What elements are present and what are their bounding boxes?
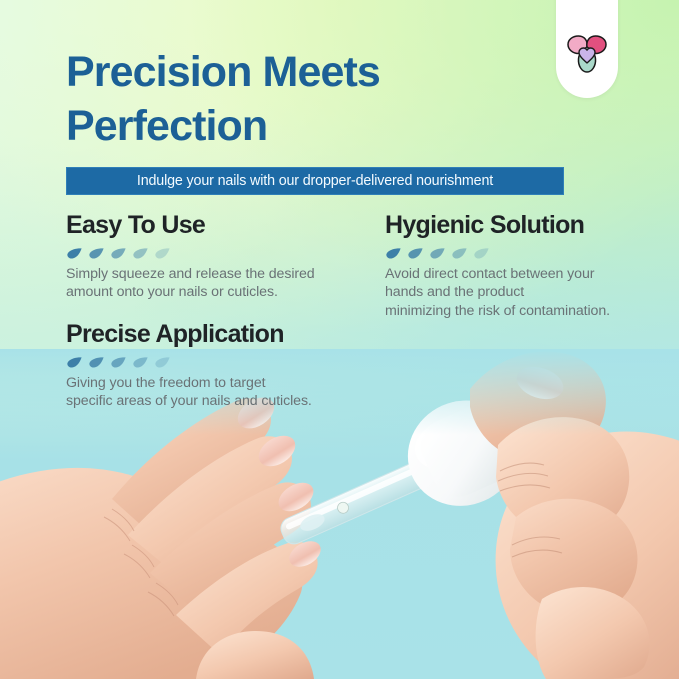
flower-petals-icon (564, 32, 610, 76)
leaf-icon (89, 357, 104, 368)
tagline-banner: Indulge your nails with our dropper-deli… (66, 167, 564, 195)
feature-title: Hygienic Solution (385, 212, 610, 240)
feature-title: Easy To Use (66, 212, 315, 240)
leaf-icon (430, 248, 445, 259)
leaf-divider (386, 248, 610, 259)
feature-body-line: specific areas of your nails and cuticle… (66, 392, 312, 411)
feature-precise-application: Precise Application Giving you the freed… (66, 321, 312, 411)
leaf-icon (133, 248, 148, 259)
feature-title: Precise Application (66, 321, 312, 349)
feature-body-line: Giving you the freedom to target (66, 374, 312, 393)
feature-body: Avoid direct contact between your hands … (385, 265, 610, 322)
page-title: Precision Meets Perfection (66, 45, 536, 153)
feature-easy-to-use: Easy To Use Simply squeeze and release t… (66, 212, 315, 302)
feature-body: Giving you the freedom to target specifi… (66, 374, 312, 412)
leaf-icon (386, 248, 401, 259)
leaf-icon (155, 248, 170, 259)
headline-line-2: Perfection (66, 99, 536, 153)
feature-body-line: minimizing the risk of contamination. (385, 302, 610, 321)
leaf-divider (67, 248, 315, 259)
leaf-icon (474, 248, 489, 259)
feature-body-line: hands and the product (385, 283, 610, 302)
leaf-icon (408, 248, 423, 259)
brand-logo-tab (556, 0, 618, 98)
feature-body-line: Simply squeeze and release the desired (66, 265, 315, 284)
leaf-icon (89, 248, 104, 259)
feature-body-line: amount onto your nails or cuticles. (66, 283, 315, 302)
leaf-icon (133, 357, 148, 368)
headline-line-1: Precision Meets (66, 48, 380, 96)
leaf-icon (155, 357, 170, 368)
feature-body-line: Avoid direct contact between your (385, 265, 610, 284)
feature-hygienic-solution: Hygienic Solution Avoid direct contact b… (385, 212, 610, 321)
leaf-divider (67, 357, 312, 368)
leaf-icon (67, 357, 82, 368)
leaf-icon (111, 248, 126, 259)
feature-body: Simply squeeze and release the desired a… (66, 265, 315, 303)
tagline-text: Indulge your nails with our dropper-deli… (137, 173, 493, 189)
leaf-icon (111, 357, 126, 368)
leaf-icon (452, 248, 467, 259)
leaf-icon (67, 248, 82, 259)
